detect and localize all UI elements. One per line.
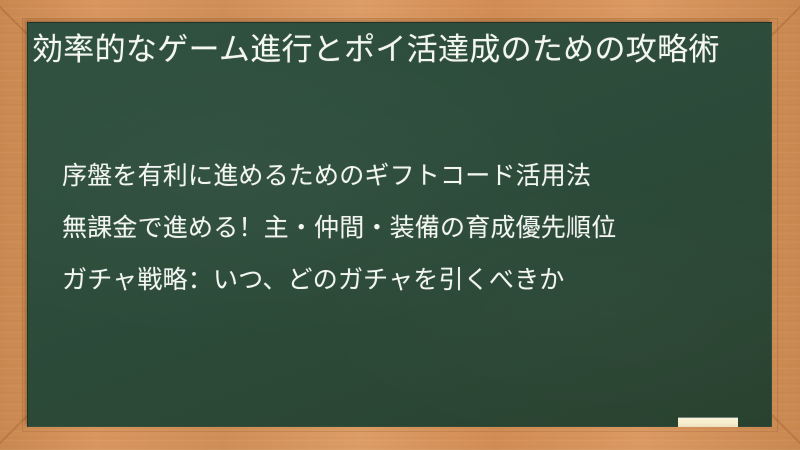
chalkboard-surface: 効率的なゲーム進行とポイ活達成のための攻略術 序盤を有利に進めるためのギフトコー…: [27, 22, 772, 427]
list-item: 無課金で進める！主・仲間・装備の育成優先順位: [62, 202, 762, 254]
slide-title: 効率的なゲーム進行とポイ活達成のための攻略術: [32, 27, 752, 72]
list-item: 序盤を有利に進めるためのギフトコード活用法: [62, 150, 762, 202]
chalk-stick-icon: [678, 418, 738, 427]
board-content: 効率的なゲーム進行とポイ活達成のための攻略術 序盤を有利に進めるためのギフトコー…: [27, 22, 772, 427]
bullet-list: 序盤を有利に進めるためのギフトコード活用法 無課金で進める！主・仲間・装備の育成…: [62, 150, 762, 306]
list-item: ガチャ戦略：いつ、どのガチャを引くべきか: [62, 254, 762, 306]
chalkboard-slide: 効率的なゲーム進行とポイ活達成のための攻略術 序盤を有利に進めるためのギフトコー…: [0, 0, 800, 450]
